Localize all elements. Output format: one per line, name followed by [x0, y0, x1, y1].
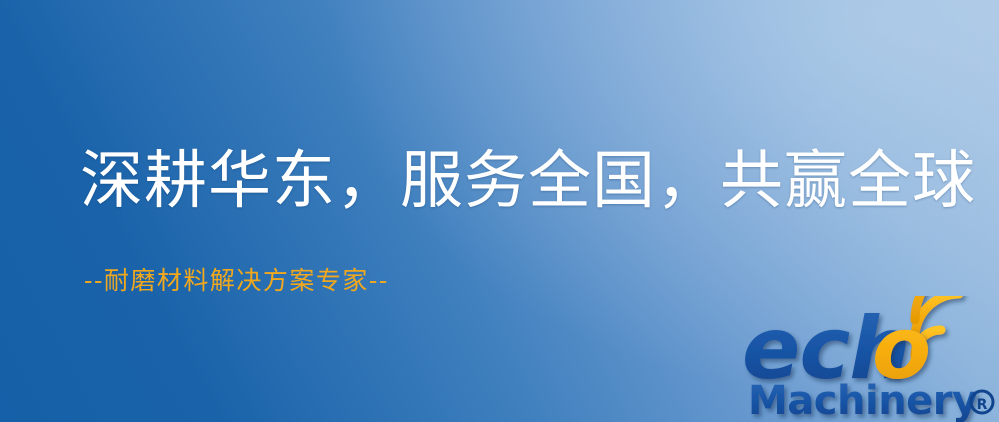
- banner-headline: 深耕华东，服务全国，共赢全球: [80, 148, 976, 214]
- echo-machinery-logo[interactable]: ech o Machinery R: [744, 296, 999, 422]
- logo-tagline: Machinery: [748, 378, 978, 422]
- svg-text:Machinery: Machinery: [748, 378, 978, 422]
- promo-banner: 深耕华东，服务全国，共赢全球 --耐磨材料解决方案专家--: [0, 0, 999, 422]
- logo-artwork: ech o Machinery R: [744, 296, 999, 422]
- banner-subheadline: --耐磨材料解决方案专家--: [84, 266, 389, 296]
- svg-text:R: R: [977, 397, 988, 413]
